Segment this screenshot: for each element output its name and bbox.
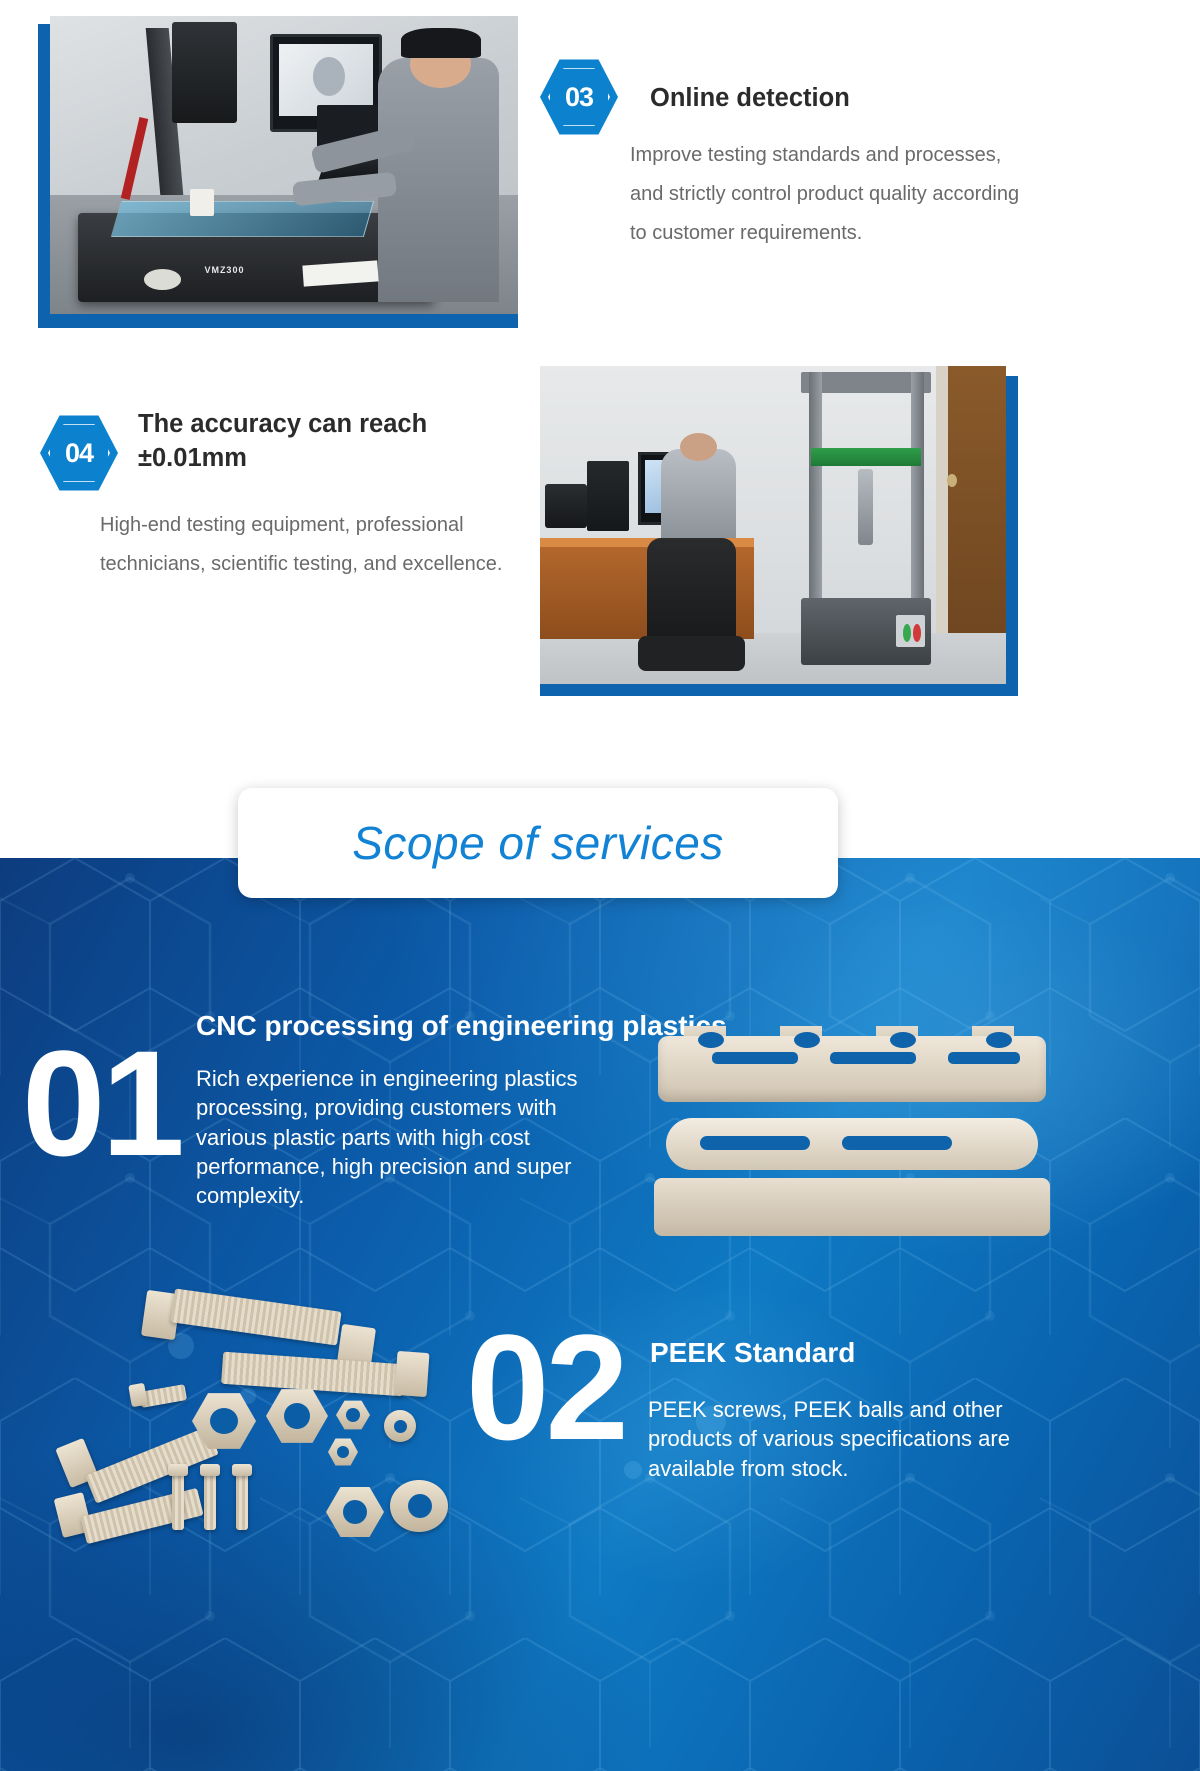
feature-03-title: Online detection [650,82,1120,116]
service-01-body: Rich experience in engineering plastics … [196,1064,616,1210]
feature-03-number: 03 [540,58,618,136]
optical-measuring-machine-photo: VMZ300 [50,16,518,314]
scope-title-card: Scope of services [238,788,838,898]
feature-04-number: 04 [40,414,118,492]
service-02-title: PEEK Standard [650,1335,1080,1370]
feature-04-title: The accuracy can reach ±0.01mm [138,408,518,475]
feature-04-photo-frame [540,366,1018,696]
feature-04-number-badge: 04 [40,414,118,492]
service-01-number: 01 [22,1028,181,1178]
service-02-body: PEEK screws, PEEK balls and other produc… [648,1395,1068,1483]
peek-chain-plate-photo [652,1026,1052,1251]
scope-title-text: Scope of services [352,816,724,870]
feature-03-number-badge: 03 [540,58,618,136]
feature-04-body: High-end testing equipment, professional… [100,506,530,584]
tensile-testing-machine-photo [540,366,1006,684]
peek-fasteners-photo [44,1280,464,1530]
feature-03-photo-frame: VMZ300 [38,8,518,328]
service-02-number: 02 [466,1312,625,1462]
photo-frame-right-bar [1004,376,1018,696]
feature-03-body: Improve testing standards and processes,… [630,136,1030,253]
decorative-dot [624,1461,642,1479]
features-section: VMZ300 03 Online detection Improve testi… [0,0,1200,858]
photo-frame-bottom-bar [540,682,1018,696]
photo-frame-bottom-bar [38,314,518,328]
